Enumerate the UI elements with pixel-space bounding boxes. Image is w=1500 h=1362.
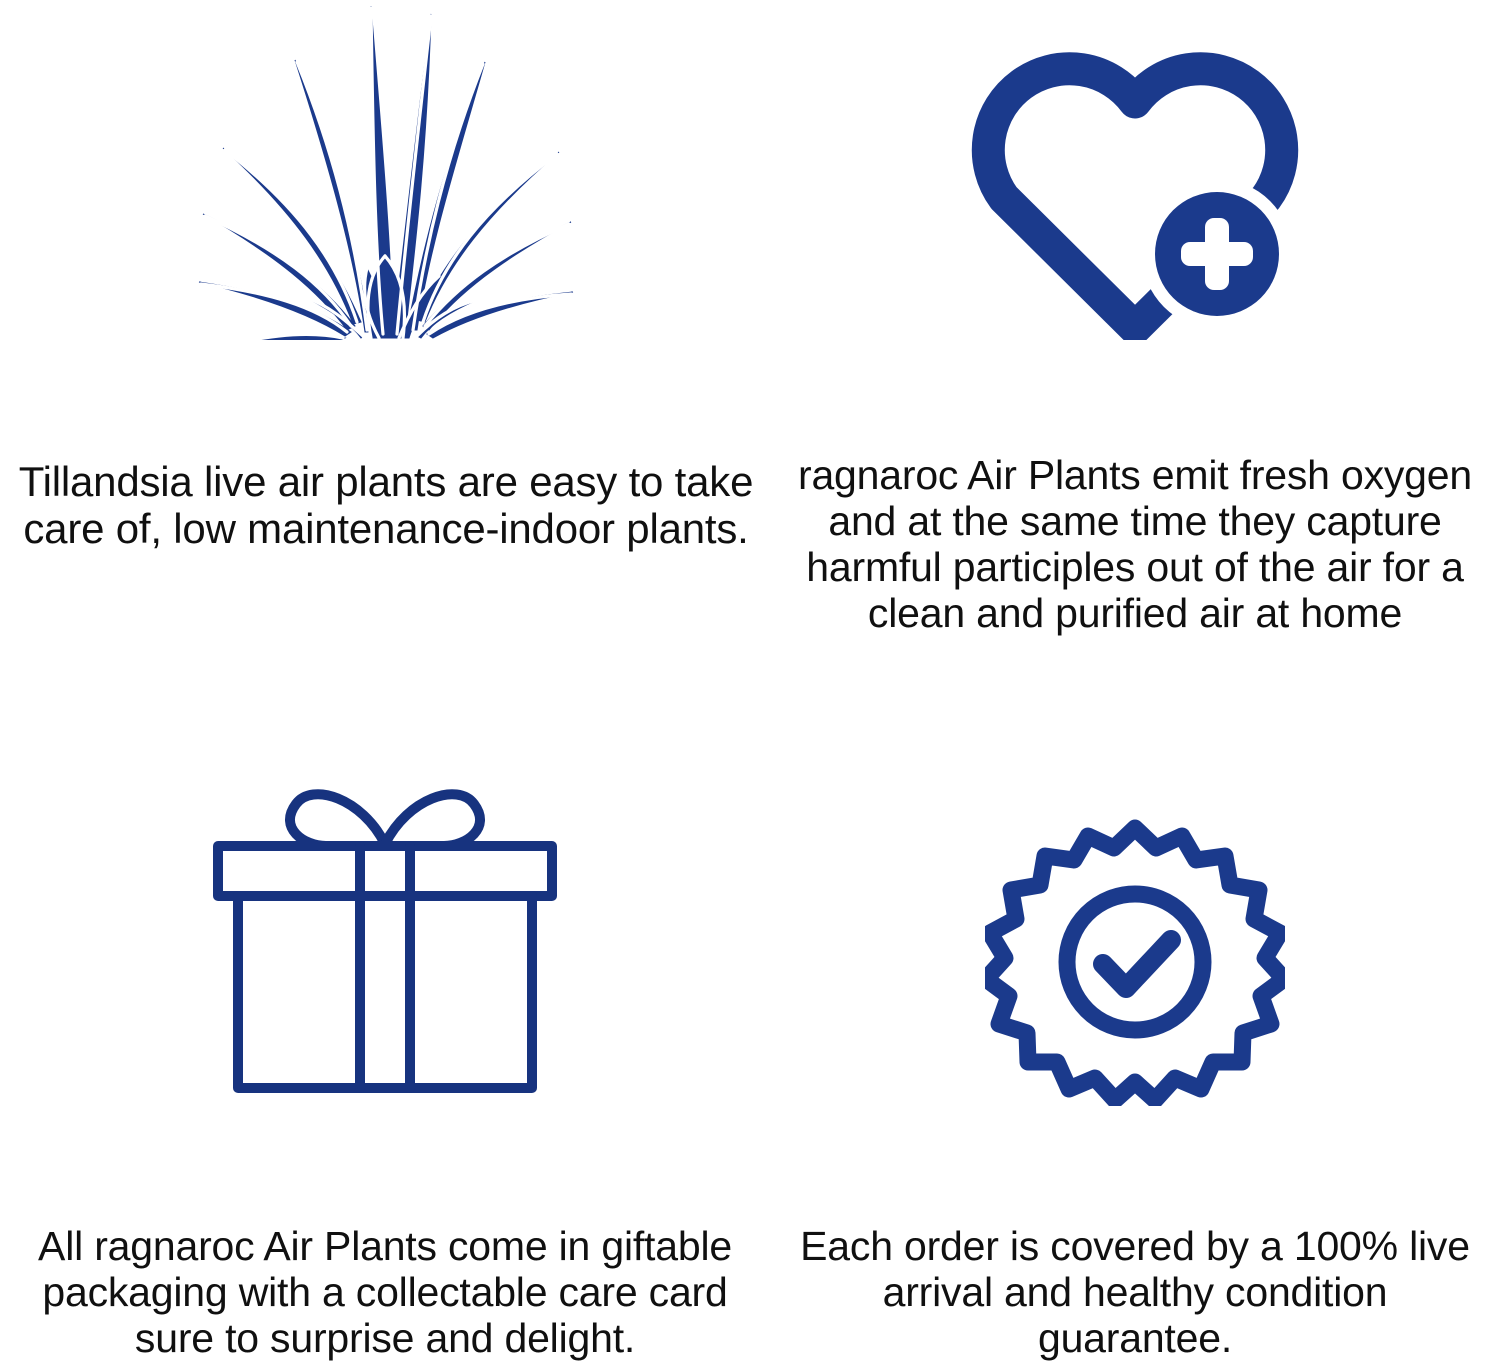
panel-caption: All ragnaroc Air Plants come in giftable… [0, 1224, 770, 1362]
air-plant-icon [195, 0, 575, 340]
gift-lid [218, 846, 552, 896]
panel-caption: ragnaroc Air Plants emit fresh oxygen an… [770, 453, 1500, 637]
bow-loop-right [385, 795, 480, 847]
heart-plus-icon-well [770, 0, 1500, 340]
seal-inner-circle [1067, 894, 1203, 1030]
panel-caption: Each order is covered by a 100% live arr… [770, 1224, 1500, 1362]
feature-panel-air-plant-care: Tillandsia live air plants are easy to t… [0, 0, 770, 681]
gift-body [238, 896, 532, 1088]
guarantee-badge-icon [985, 816, 1285, 1106]
heart-plus-icon [970, 40, 1300, 340]
air-plant-icon-well [0, 0, 770, 340]
feature-panel-giftable-packaging: All ragnaroc Air Plants come in giftable… [0, 681, 770, 1362]
guarantee-badge-icon-well [770, 681, 1500, 1106]
bow-loop-left [290, 795, 385, 847]
feature-panel-live-arrival-guarantee: Each order is covered by a 100% live arr… [770, 681, 1500, 1362]
check-icon [1103, 940, 1171, 988]
gift-box-icon-well [0, 681, 770, 1106]
panel-caption: Tillandsia live air plants are easy to t… [0, 458, 770, 552]
gift-box-icon [200, 776, 570, 1106]
feature-panel-air-purification: ragnaroc Air Plants emit fresh oxygen an… [770, 0, 1500, 681]
feature-grid: Tillandsia live air plants are easy to t… [0, 0, 1500, 1362]
